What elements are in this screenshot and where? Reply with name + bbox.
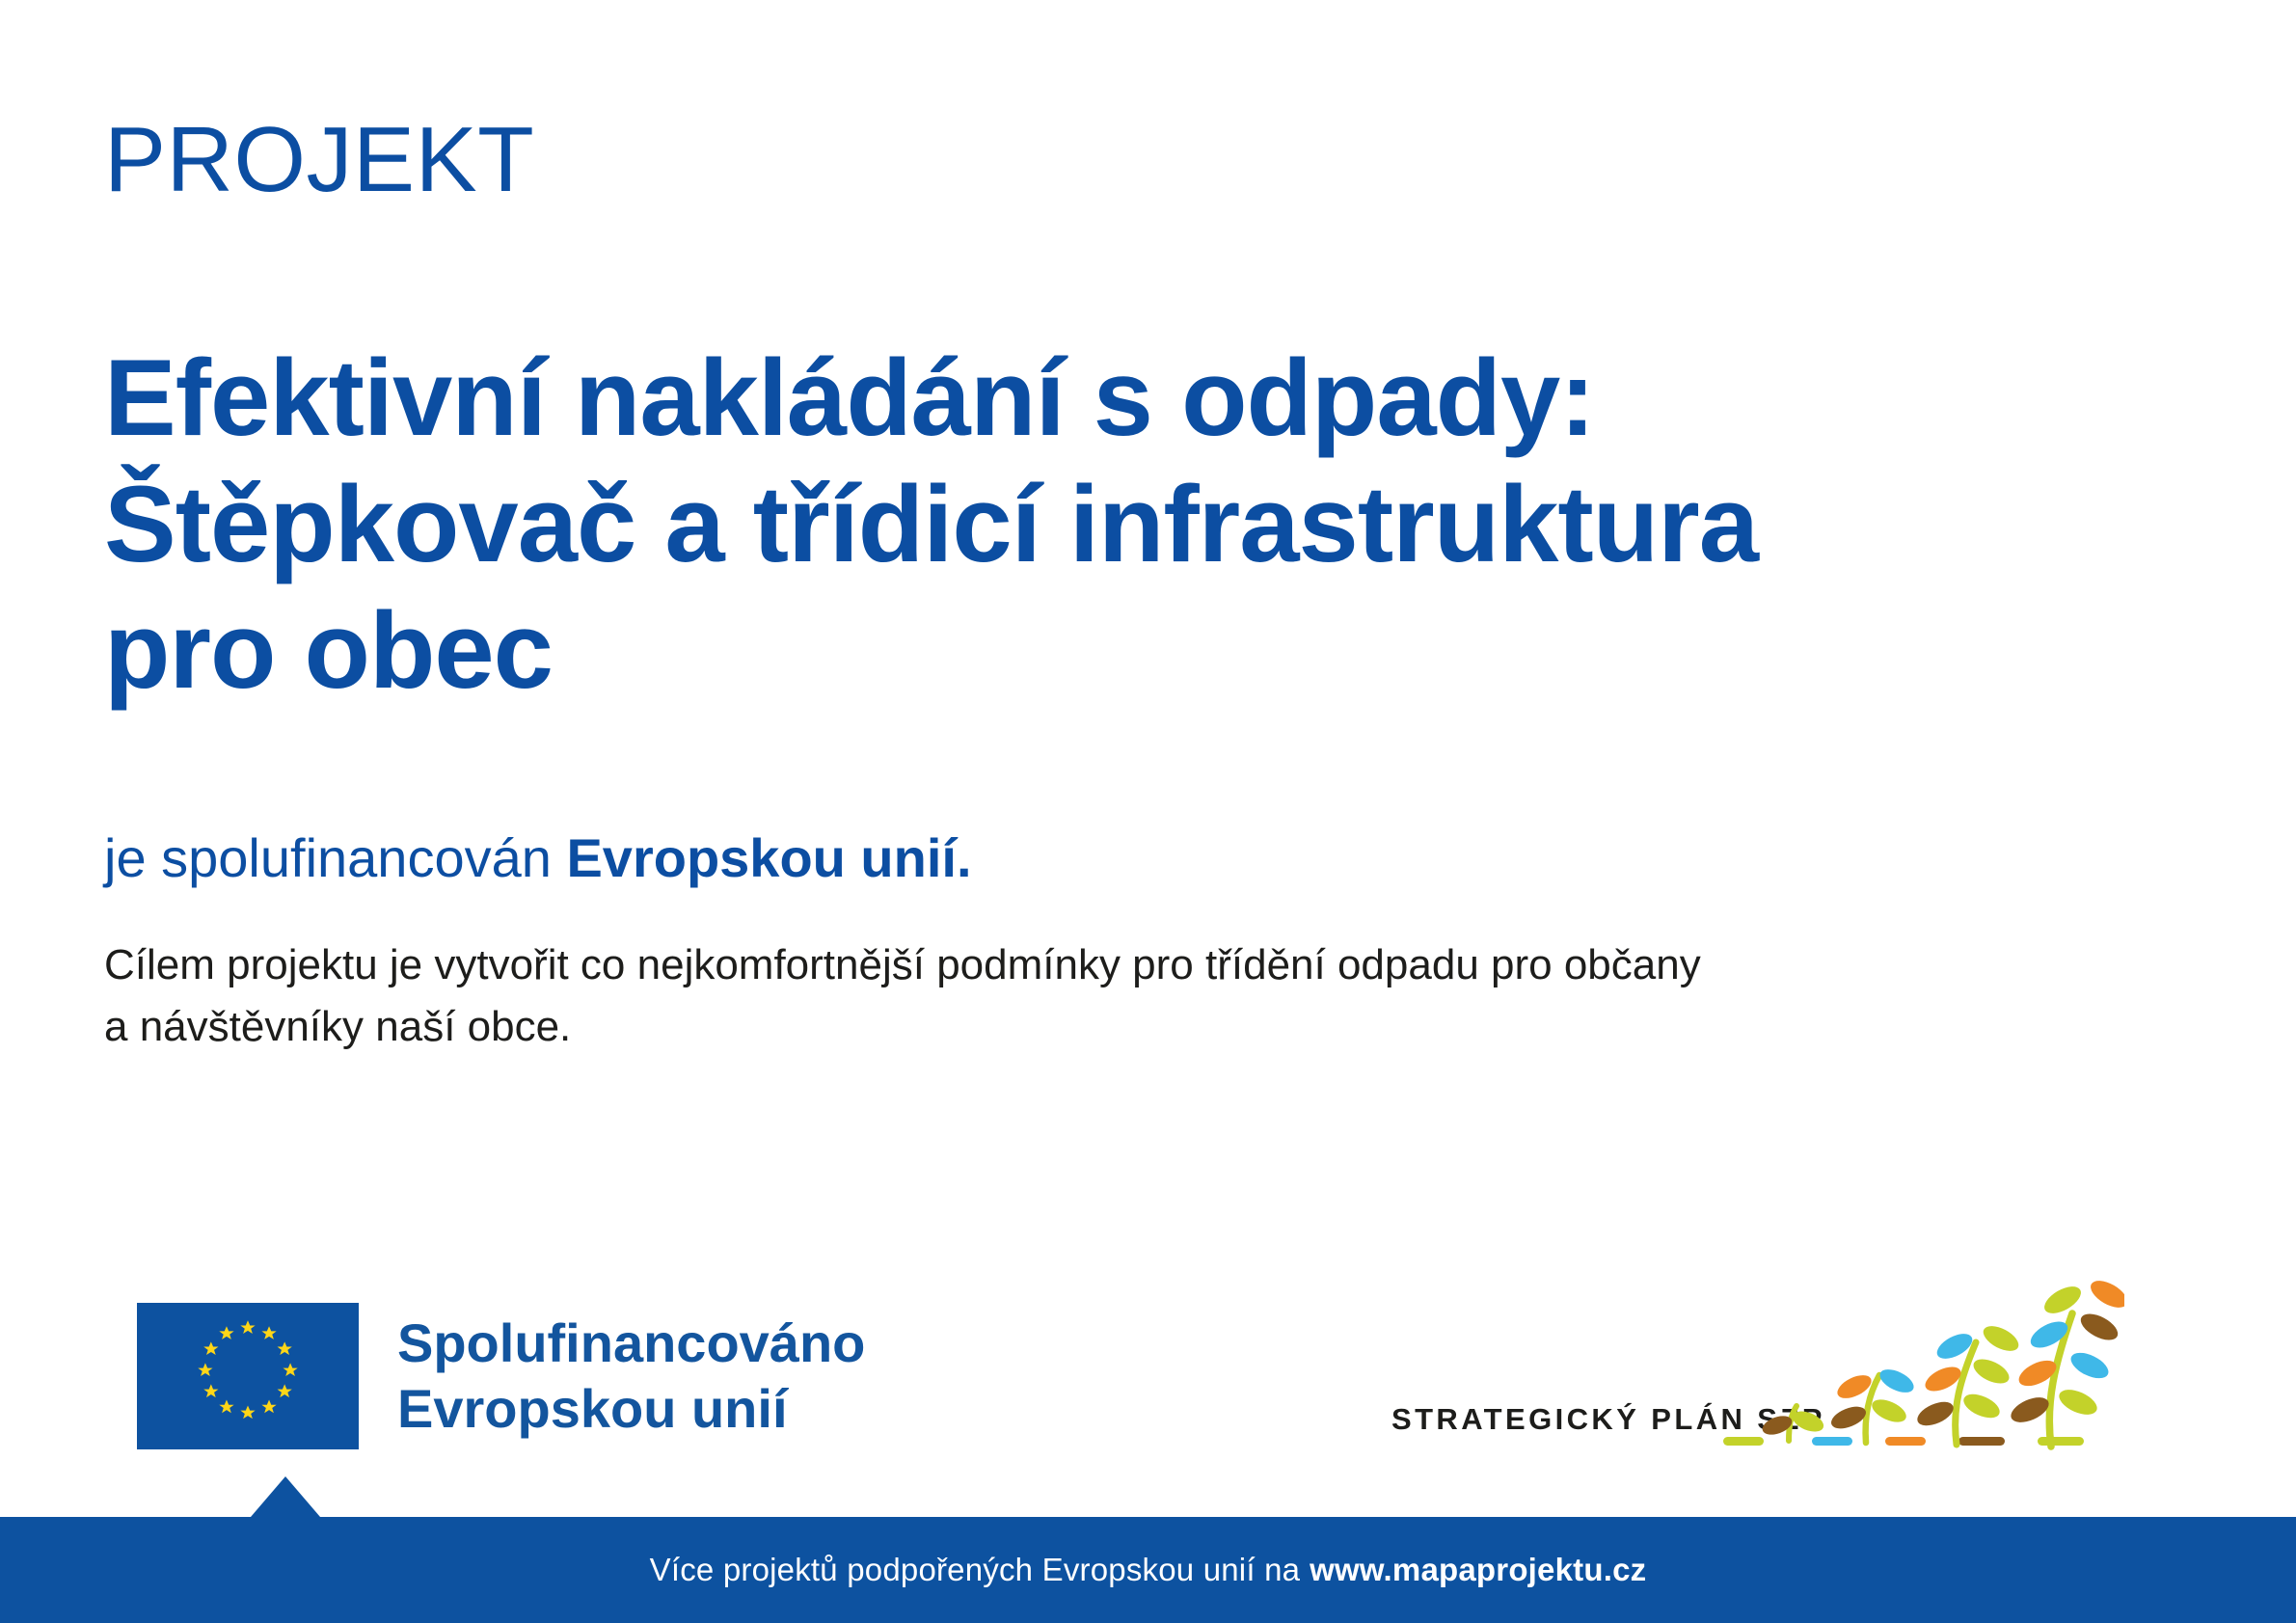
funding-subline-prefix: je spolufinancován xyxy=(104,827,566,888)
eyebrow-label: PROJEKT xyxy=(104,114,534,206)
european-union-flag-icon xyxy=(137,1303,359,1449)
description-line-1: Cílem projektu je vytvořit co nejkomfort… xyxy=(104,934,2052,996)
funding-subline: je spolufinancován Evropskou unií. xyxy=(104,825,972,890)
headline-line-2: Štěpkovač a třídicí infrastruktura xyxy=(104,461,2091,587)
footer-text-prefix: Více projektů podpořených Evropskou unií… xyxy=(650,1552,1301,1588)
headline-line-1: Efektivní nakládání s odpady: xyxy=(104,335,2091,461)
funding-subline-strong: Evropskou unií. xyxy=(566,827,971,888)
szp-logo: STRATEGICKÝ PLÁN SZP xyxy=(1391,1271,2124,1454)
page-title: Efektivní nakládání s odpady: Štěpkovač … xyxy=(104,335,2091,714)
footer-url-link[interactable]: www.mapaprojektu.cz xyxy=(1310,1552,1646,1588)
project-poster: PROJEKT Efektivní nakládání s odpady: Št… xyxy=(0,0,2296,1623)
description-line-2: a návštěvníky naší obce. xyxy=(104,996,2052,1058)
growing-plants-icon xyxy=(1719,1271,2124,1454)
footer-text: Více projektů podpořených Evropskou unií… xyxy=(0,1517,2296,1623)
eu-emblem: Spolufinancováno Evropskou unií xyxy=(137,1303,865,1449)
footer-bar: Více projektů podpořených Evropskou unií… xyxy=(0,1517,2296,1623)
project-description: Cílem projektu je vytvořit co nejkomfort… xyxy=(104,934,2052,1058)
eu-caption-line-1: Spolufinancováno xyxy=(397,1311,865,1376)
eu-emblem-caption: Spolufinancováno Evropskou unií xyxy=(397,1311,865,1443)
headline-line-3: pro obec xyxy=(104,587,2091,714)
eu-caption-line-2: Evropskou unií xyxy=(397,1376,865,1442)
footer-notch-triangle-icon xyxy=(251,1476,320,1517)
